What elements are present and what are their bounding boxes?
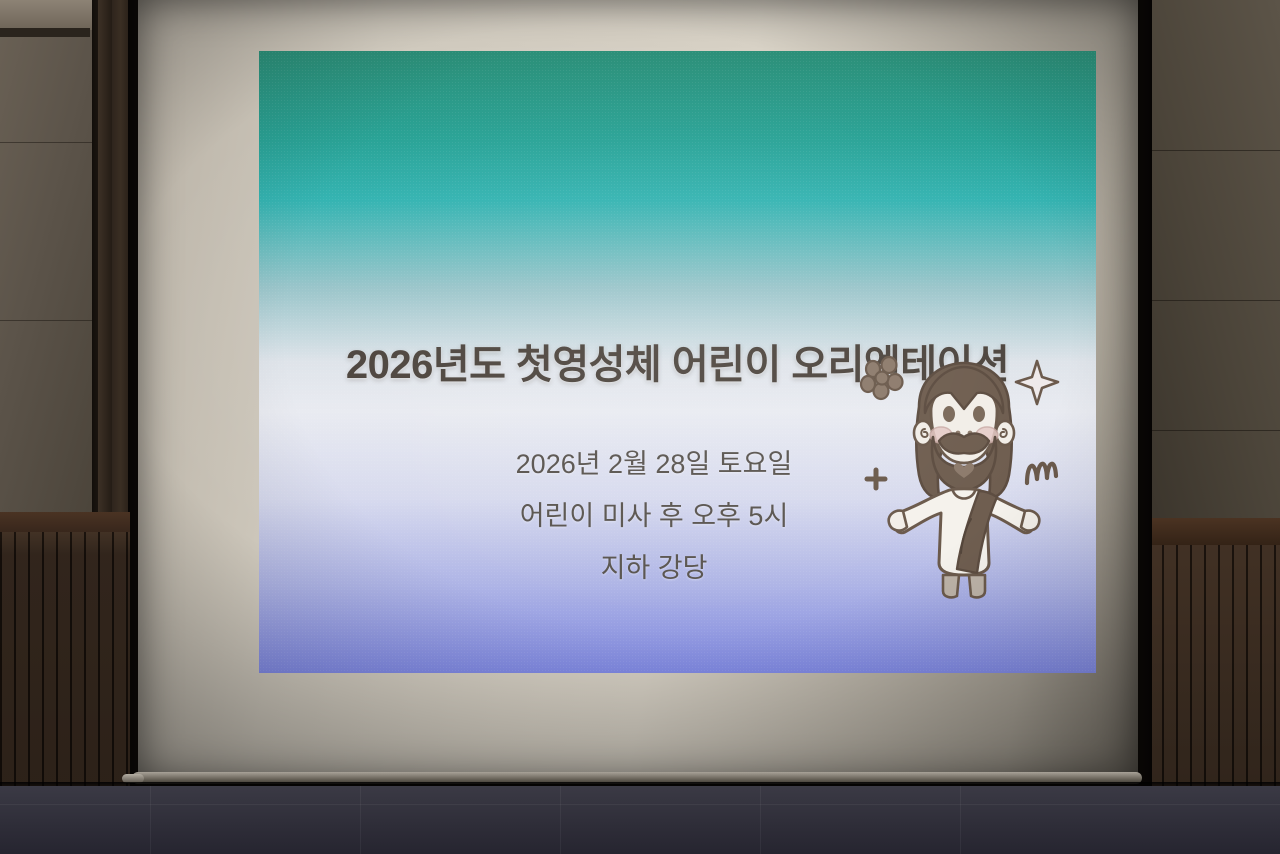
room-scene: 2026년도 첫영성체 어린이 오리엔테이션 2026년 2월 28일 토요일 … <box>0 0 1280 854</box>
right-wood-slat-wall <box>1148 545 1280 815</box>
slide-vignette <box>259 51 1096 673</box>
left-stone-wall <box>0 0 98 538</box>
ceiling-soffit-shadow <box>0 28 90 37</box>
right-wainscot-cap <box>1148 518 1280 548</box>
tiled-floor <box>0 786 1280 854</box>
wood-slat-texture-left <box>0 532 130 824</box>
floor-tile-line <box>0 804 1280 805</box>
wood-slat-texture <box>1148 545 1280 815</box>
ceiling-soffit <box>0 0 98 30</box>
projected-slide: 2026년도 첫영성체 어린이 오리엔테이션 2026년 2월 28일 토요일 … <box>259 51 1096 673</box>
left-wood-slat-wall <box>0 532 130 824</box>
right-stone-wall <box>1148 0 1280 520</box>
